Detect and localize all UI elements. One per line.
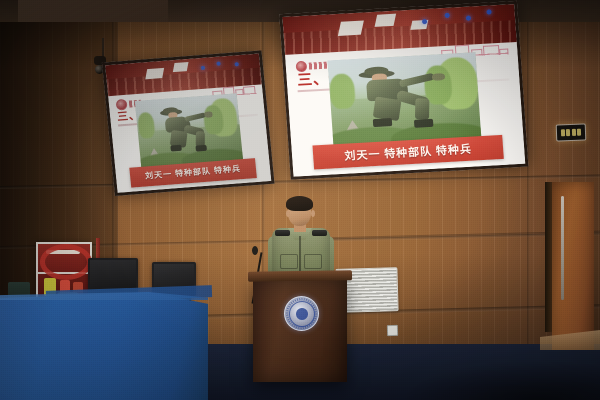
banner-flag	[173, 62, 188, 72]
presenter-pocket	[304, 254, 322, 269]
university-seal-emblem	[284, 296, 319, 331]
banner-lantern	[445, 13, 450, 18]
soldier-boot	[170, 145, 182, 152]
lectern-top-edge	[248, 270, 352, 281]
side-door[interactable]	[552, 182, 594, 350]
soldier-boot	[373, 118, 392, 127]
skyline-shape	[499, 48, 509, 54]
presenter-shoulder-board	[312, 230, 327, 236]
slide-photo	[135, 94, 243, 168]
banner-flag	[145, 68, 164, 79]
presenter-hair	[286, 196, 313, 211]
presenter-ear	[286, 210, 290, 217]
slide-photo	[327, 53, 481, 147]
slide-right: 三、退伍军人优秀群体	[282, 4, 525, 177]
left-projection-screen[interactable]: 三、退伍军人优秀群体	[102, 50, 275, 196]
banner-lantern	[216, 61, 220, 65]
presenter-ear	[311, 210, 315, 217]
slide-caption-text: 刘天一 特种部队 特种兵	[344, 141, 472, 164]
skyline-shape	[243, 86, 256, 95]
soldier-grenade	[432, 73, 445, 81]
exit-sign-glyph	[566, 129, 570, 136]
av-control-desk[interactable]	[0, 292, 208, 400]
soldier-arm	[398, 73, 434, 88]
banner-flag	[338, 21, 364, 37]
wall-seam	[527, 22, 530, 352]
lectern[interactable]	[253, 278, 347, 382]
floor-shadow	[400, 360, 600, 400]
right-projection-screen[interactable]: 三、退伍军人优秀群体	[279, 1, 528, 180]
banner-lantern	[487, 9, 492, 14]
photo-soldier	[355, 64, 458, 138]
exit-sign-glyph	[577, 129, 581, 136]
presenter-pocket	[280, 254, 298, 269]
exit-sign	[556, 123, 587, 141]
soldier-leg	[415, 98, 429, 120]
lecture-hall-photo: 三、退伍军人优秀群体	[0, 0, 600, 400]
soldier-arm	[185, 112, 207, 122]
banner-lantern	[235, 62, 239, 66]
banner-lantern	[466, 16, 471, 21]
wall-outlet	[387, 325, 398, 336]
exit-sign-glyph	[561, 129, 565, 136]
camera-mount-arm	[102, 38, 104, 58]
banner-lantern	[201, 66, 205, 70]
soldier-grenade	[205, 112, 213, 118]
banner-flag	[374, 14, 395, 27]
fire-hose-reel	[40, 244, 92, 280]
microphone-icon	[252, 246, 258, 255]
slide-left: 三、退伍军人优秀群体	[105, 54, 271, 193]
slide-caption-text: 刘天一 特种部队 特种兵	[145, 164, 242, 182]
seal-ring	[289, 301, 315, 327]
soldier-boot	[414, 119, 433, 128]
exit-sign-glyph	[572, 129, 576, 136]
skyline-shape	[483, 45, 500, 56]
door-handle[interactable]	[561, 196, 564, 300]
presenter-shoulder-board	[275, 230, 290, 236]
photo-soldier	[156, 104, 224, 160]
soldier-boot	[195, 145, 207, 152]
